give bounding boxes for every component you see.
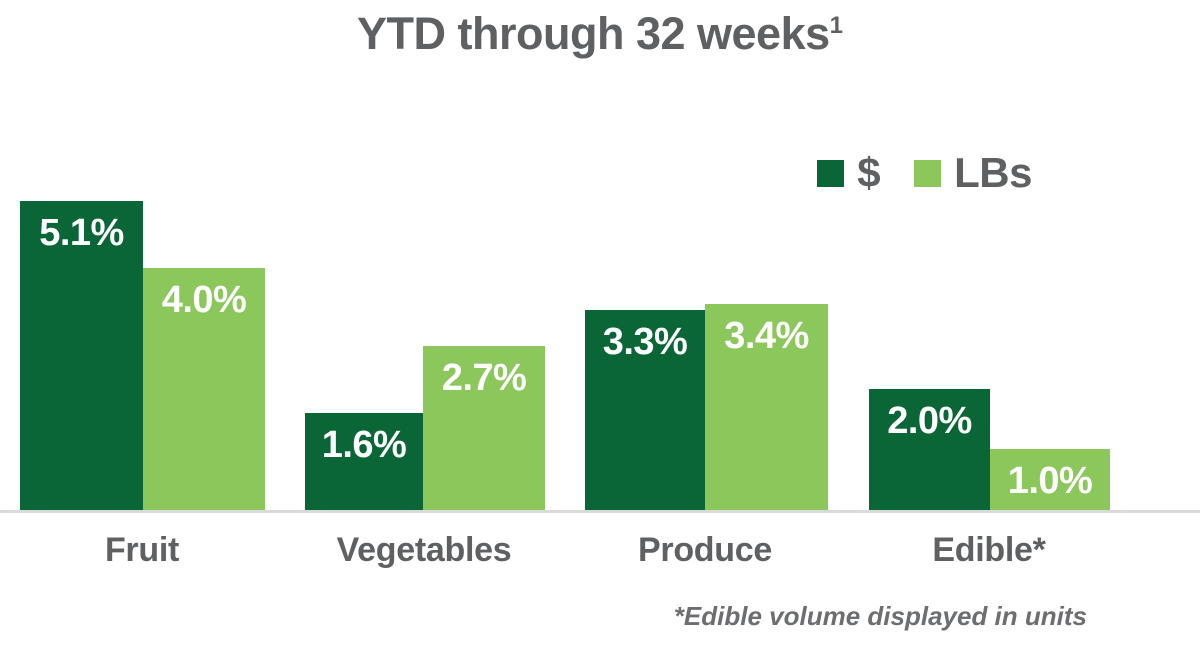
bar-value-label: 1.0% bbox=[1008, 449, 1093, 500]
bar-value-label: 4.0% bbox=[162, 268, 247, 319]
bar-value-label: 3.4% bbox=[724, 304, 809, 355]
bar-value-label: 3.3% bbox=[603, 310, 688, 361]
bar-value-label: 1.6% bbox=[322, 413, 407, 464]
category-label-fruit: Fruit bbox=[0, 531, 292, 570]
bar-produce-dollars[interactable]: 3.3% bbox=[585, 310, 705, 510]
bar-edible-dollars[interactable]: 2.0% bbox=[869, 389, 990, 510]
bar-produce-lbs[interactable]: 3.4% bbox=[705, 304, 828, 510]
category-label-produce: Produce bbox=[555, 531, 855, 570]
bar-value-label: 2.7% bbox=[442, 346, 527, 397]
axis-baseline bbox=[0, 510, 1200, 513]
bar-vegetables-lbs[interactable]: 2.7% bbox=[423, 346, 545, 510]
bar-fruit-lbs[interactable]: 4.0% bbox=[143, 268, 265, 510]
category-label-vegetables: Vegetables bbox=[274, 531, 574, 570]
bar-vegetables-dollars[interactable]: 1.6% bbox=[305, 413, 423, 510]
bar-value-label: 5.1% bbox=[39, 201, 124, 252]
bar-value-label: 2.0% bbox=[887, 389, 972, 440]
bar-chart: YTD through 32 weeks1 $LBs 5.1%4.0%1.6%2… bbox=[0, 0, 1200, 663]
bar-fruit-dollars[interactable]: 5.1% bbox=[20, 201, 143, 510]
bar-edible-lbs[interactable]: 1.0% bbox=[990, 449, 1110, 510]
chart-footnote: *Edible volume displayed in units bbox=[674, 601, 1087, 632]
category-label-edible: Edible* bbox=[839, 531, 1139, 570]
